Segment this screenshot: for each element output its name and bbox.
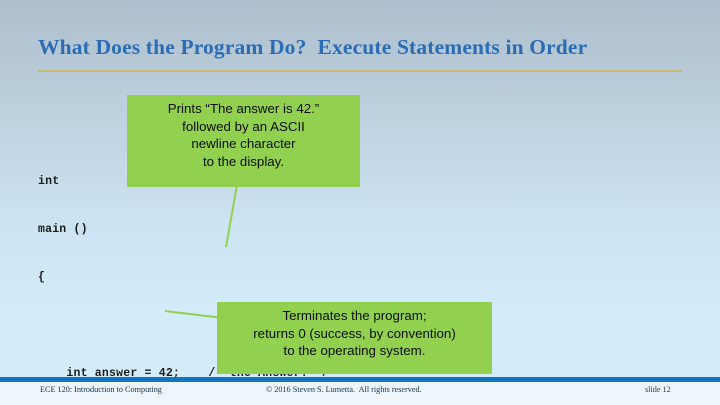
- leader-line-return-icon: [165, 305, 225, 327]
- code-line-open-brace: {: [38, 270, 350, 286]
- title-underline-rule: [38, 70, 682, 72]
- footer-slide-number: slide 12: [645, 385, 671, 394]
- page-title: What Does the Program Do? Execute Statem…: [38, 34, 698, 60]
- callout-prints: Prints “The answer is 42.” followed by a…: [127, 95, 360, 187]
- footer-course-name: ECE 120: Introduction to Computing: [40, 385, 162, 394]
- callout-returns: Terminates the program; returns 0 (succe…: [217, 302, 492, 374]
- leader-line-printf-icon: [205, 185, 255, 247]
- slide: What Does the Program Do? Execute Statem…: [0, 0, 720, 405]
- code-line-main: main (): [38, 222, 350, 238]
- footer-copyright: © 2016 Steven S. Lumetta. All rights res…: [266, 385, 422, 394]
